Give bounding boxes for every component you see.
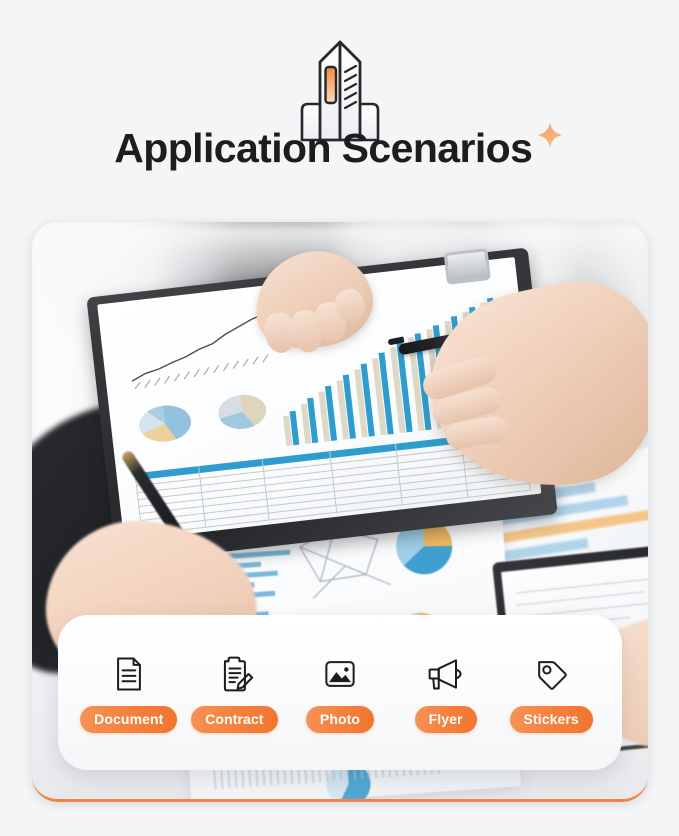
photo-icon: [318, 652, 362, 696]
category-item-contract[interactable]: Contract: [182, 652, 286, 733]
page-title-row: Application Scenarios: [0, 128, 679, 169]
sparkle-icon: [535, 120, 565, 150]
scenario-card: Document Contract: [32, 222, 648, 802]
category-label-document: Document: [80, 706, 177, 733]
category-item-photo[interactable]: Photo: [288, 652, 392, 733]
category-item-flyer[interactable]: Flyer: [394, 652, 498, 733]
category-label-flyer: Flyer: [415, 706, 477, 733]
page-header: Application Scenarios: [0, 0, 679, 210]
category-item-document[interactable]: Document: [77, 652, 181, 733]
category-item-stickers[interactable]: Stickers: [499, 652, 603, 733]
category-label-photo: Photo: [306, 706, 374, 733]
category-label-contract: Contract: [191, 706, 277, 733]
stickers-icon: [529, 652, 573, 696]
photo-report-pie-2: [217, 392, 269, 431]
category-panel: Document Contract: [58, 615, 622, 770]
page-title: Application Scenarios: [114, 128, 532, 169]
document-icon: [107, 652, 151, 696]
flyer-icon: [424, 652, 468, 696]
photo-clipboard-clip: [444, 248, 491, 285]
category-label-stickers: Stickers: [510, 706, 593, 733]
contract-icon: [212, 652, 256, 696]
photo-report-pie-1: [137, 403, 193, 445]
